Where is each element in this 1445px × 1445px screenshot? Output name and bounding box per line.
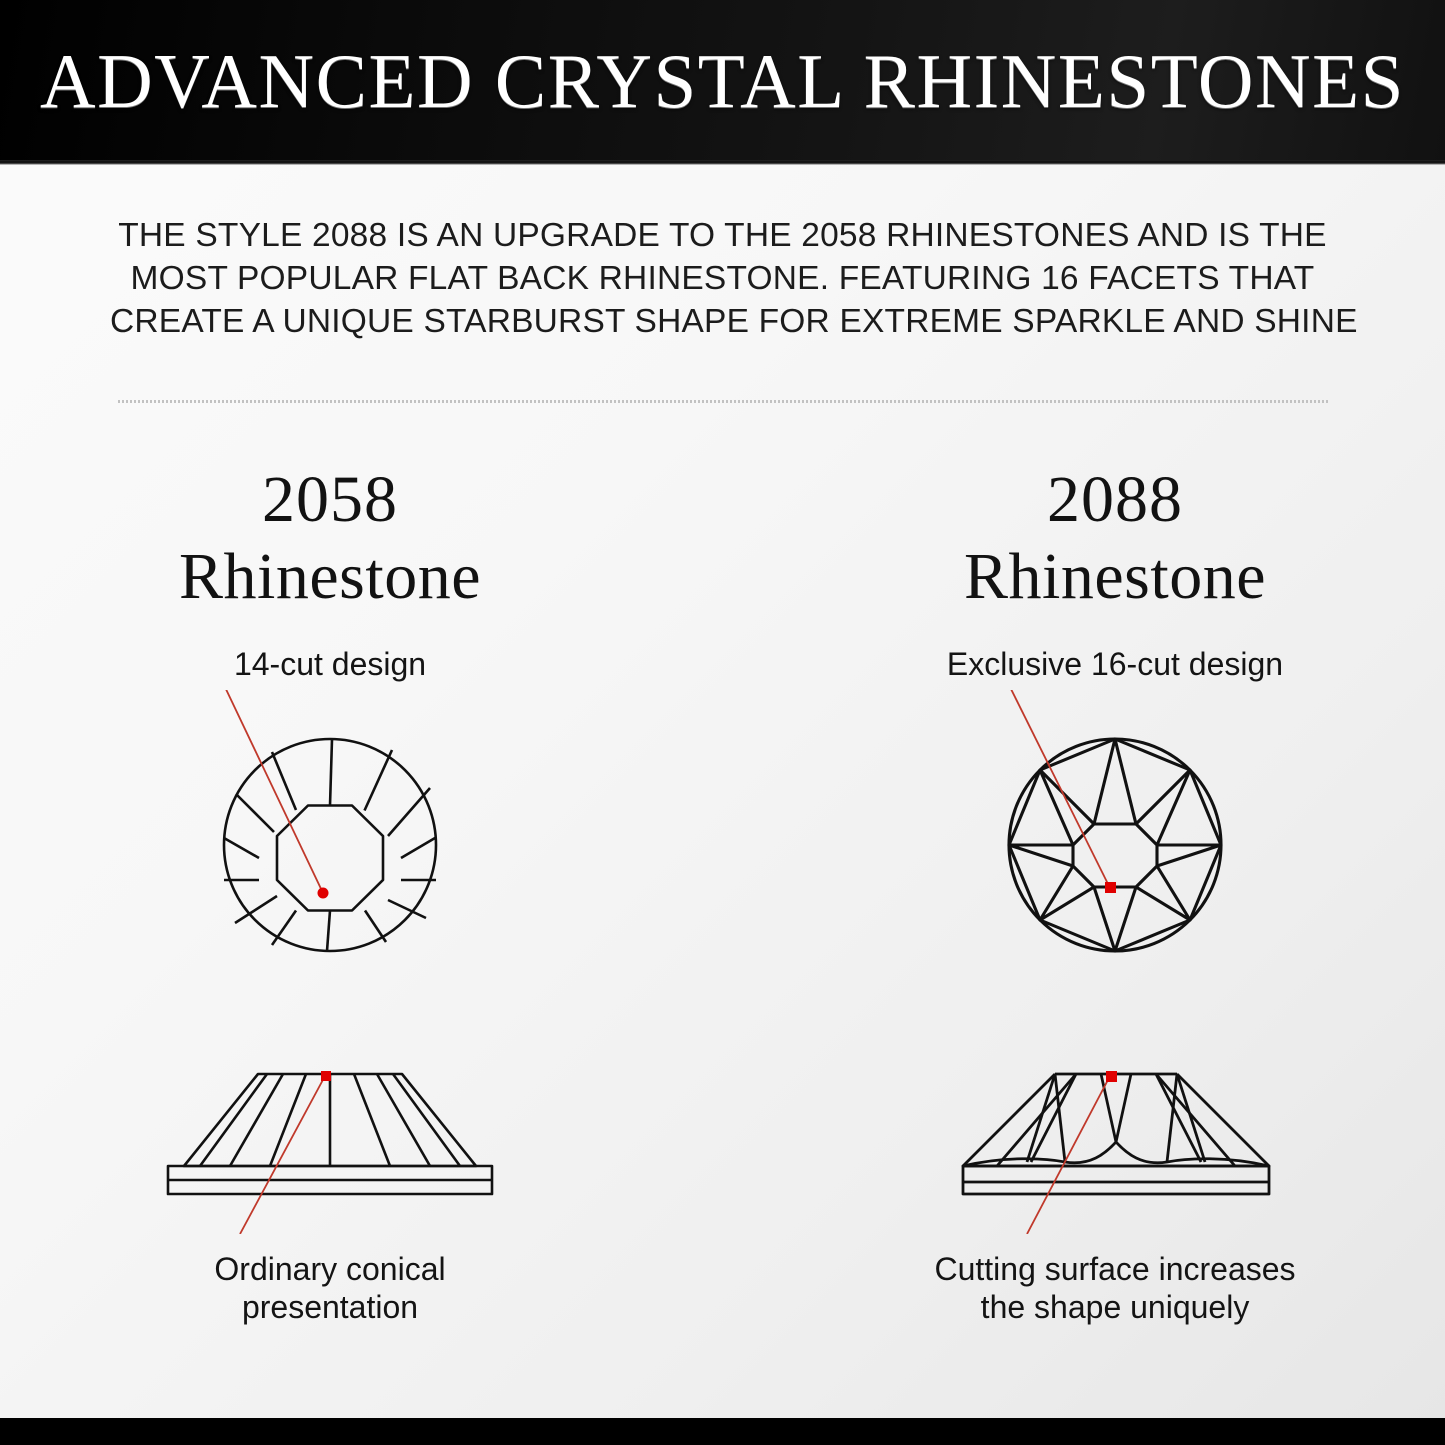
caption-cutting-surface: Cutting surface increases the shape uniq… bbox=[785, 1250, 1445, 1326]
header-underline-divider bbox=[0, 160, 1445, 165]
leader-dot-top-left bbox=[318, 888, 329, 899]
comparison-column-2058: 2058 Rhinestone 14-cut design bbox=[0, 462, 660, 1326]
heading-code-2088: 2088 bbox=[785, 462, 1445, 538]
annotation-14-cut-design: 14-cut design bbox=[0, 644, 660, 684]
leader-dot-side-right bbox=[1106, 1071, 1117, 1082]
caption-left-line-2: presentation bbox=[0, 1288, 660, 1326]
crystal-top-view-16-facet-starburst-icon bbox=[905, 690, 1325, 990]
comparison-column-2088: 2088 Rhinestone Exclusive 16-cut design bbox=[785, 462, 1445, 1326]
crystal-side-view-faceted-icon bbox=[905, 1044, 1325, 1234]
column-heading-2088: 2088 Rhinestone bbox=[785, 462, 1445, 616]
page-title: ADVANCED CRYSTAL RHINESTONES bbox=[0, 36, 1445, 126]
column-heading-2058: 2058 Rhinestone bbox=[0, 462, 660, 616]
heading-code-2058: 2058 bbox=[0, 462, 660, 538]
leader-line-side-left bbox=[240, 1076, 325, 1234]
infographic-page: ADVANCED CRYSTAL RHINESTONES THE STYLE 2… bbox=[0, 0, 1445, 1445]
caption-right-line-1: Cutting surface increases bbox=[785, 1250, 1445, 1288]
caption-right-line-2: the shape uniquely bbox=[785, 1288, 1445, 1326]
description-line-2: MOST POPULAR FLAT BACK RHINESTONE. FEATU… bbox=[110, 257, 1335, 300]
leader-dot-top-right bbox=[1105, 882, 1116, 893]
leader-dot-side-left bbox=[321, 1071, 331, 1081]
header-banner: ADVANCED CRYSTAL RHINESTONES bbox=[0, 0, 1445, 160]
crystal-top-view-14-facet-icon bbox=[120, 690, 540, 990]
description-paragraph: THE STYLE 2088 IS AN UPGRADE TO THE 2058… bbox=[110, 214, 1335, 343]
heading-name-2058: Rhinestone bbox=[0, 538, 660, 616]
crystal-side-view-conical-icon bbox=[120, 1044, 540, 1234]
dotted-divider bbox=[118, 400, 1328, 403]
heading-name-2088: Rhinestone bbox=[785, 538, 1445, 616]
caption-left-line-1: Ordinary conical bbox=[0, 1250, 660, 1288]
description-line-3: CREATE A UNIQUE STARBURST SHAPE FOR EXTR… bbox=[110, 300, 1335, 343]
footer-bar bbox=[0, 1418, 1445, 1445]
caption-ordinary-conical: Ordinary conical presentation bbox=[0, 1250, 660, 1326]
annotation-16-cut-design: Exclusive 16-cut design bbox=[785, 644, 1445, 684]
leader-line-side-right bbox=[1027, 1076, 1110, 1234]
description-line-1: THE STYLE 2088 IS AN UPGRADE TO THE 2058… bbox=[110, 214, 1335, 257]
